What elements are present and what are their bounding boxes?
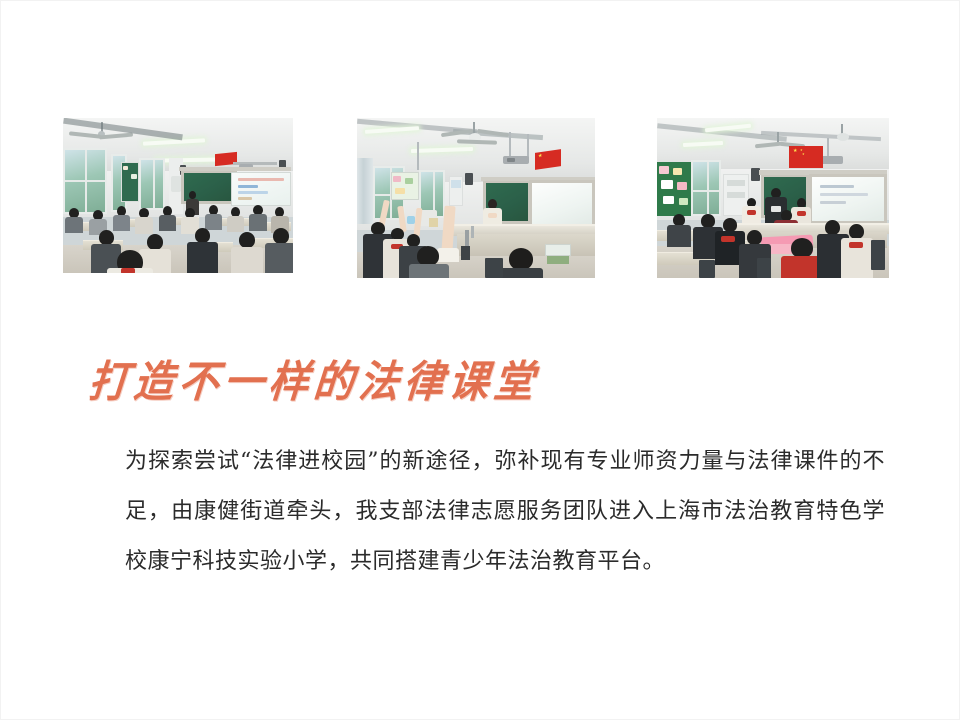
slide-body: 为探索尝试“法律进校园”的新途径，弥补现有专业师资力量与法律课件的不足，由康健街… bbox=[125, 437, 885, 587]
slide-canvas: ★ bbox=[0, 0, 960, 720]
slide-title: 打造不一样的法律课堂 bbox=[86, 347, 611, 410]
classroom-lecture-photo bbox=[63, 118, 293, 273]
photo-strip: ★ bbox=[1, 118, 960, 283]
body-paragraph: 为探索尝试“法律进校园”的新途径，弥补现有专业师资力量与法律课件的不足，由康健街… bbox=[125, 437, 885, 587]
students-raising-hands-photo: ★ bbox=[357, 118, 595, 278]
group-activity-photo: ★ ★ ★ bbox=[657, 118, 889, 278]
